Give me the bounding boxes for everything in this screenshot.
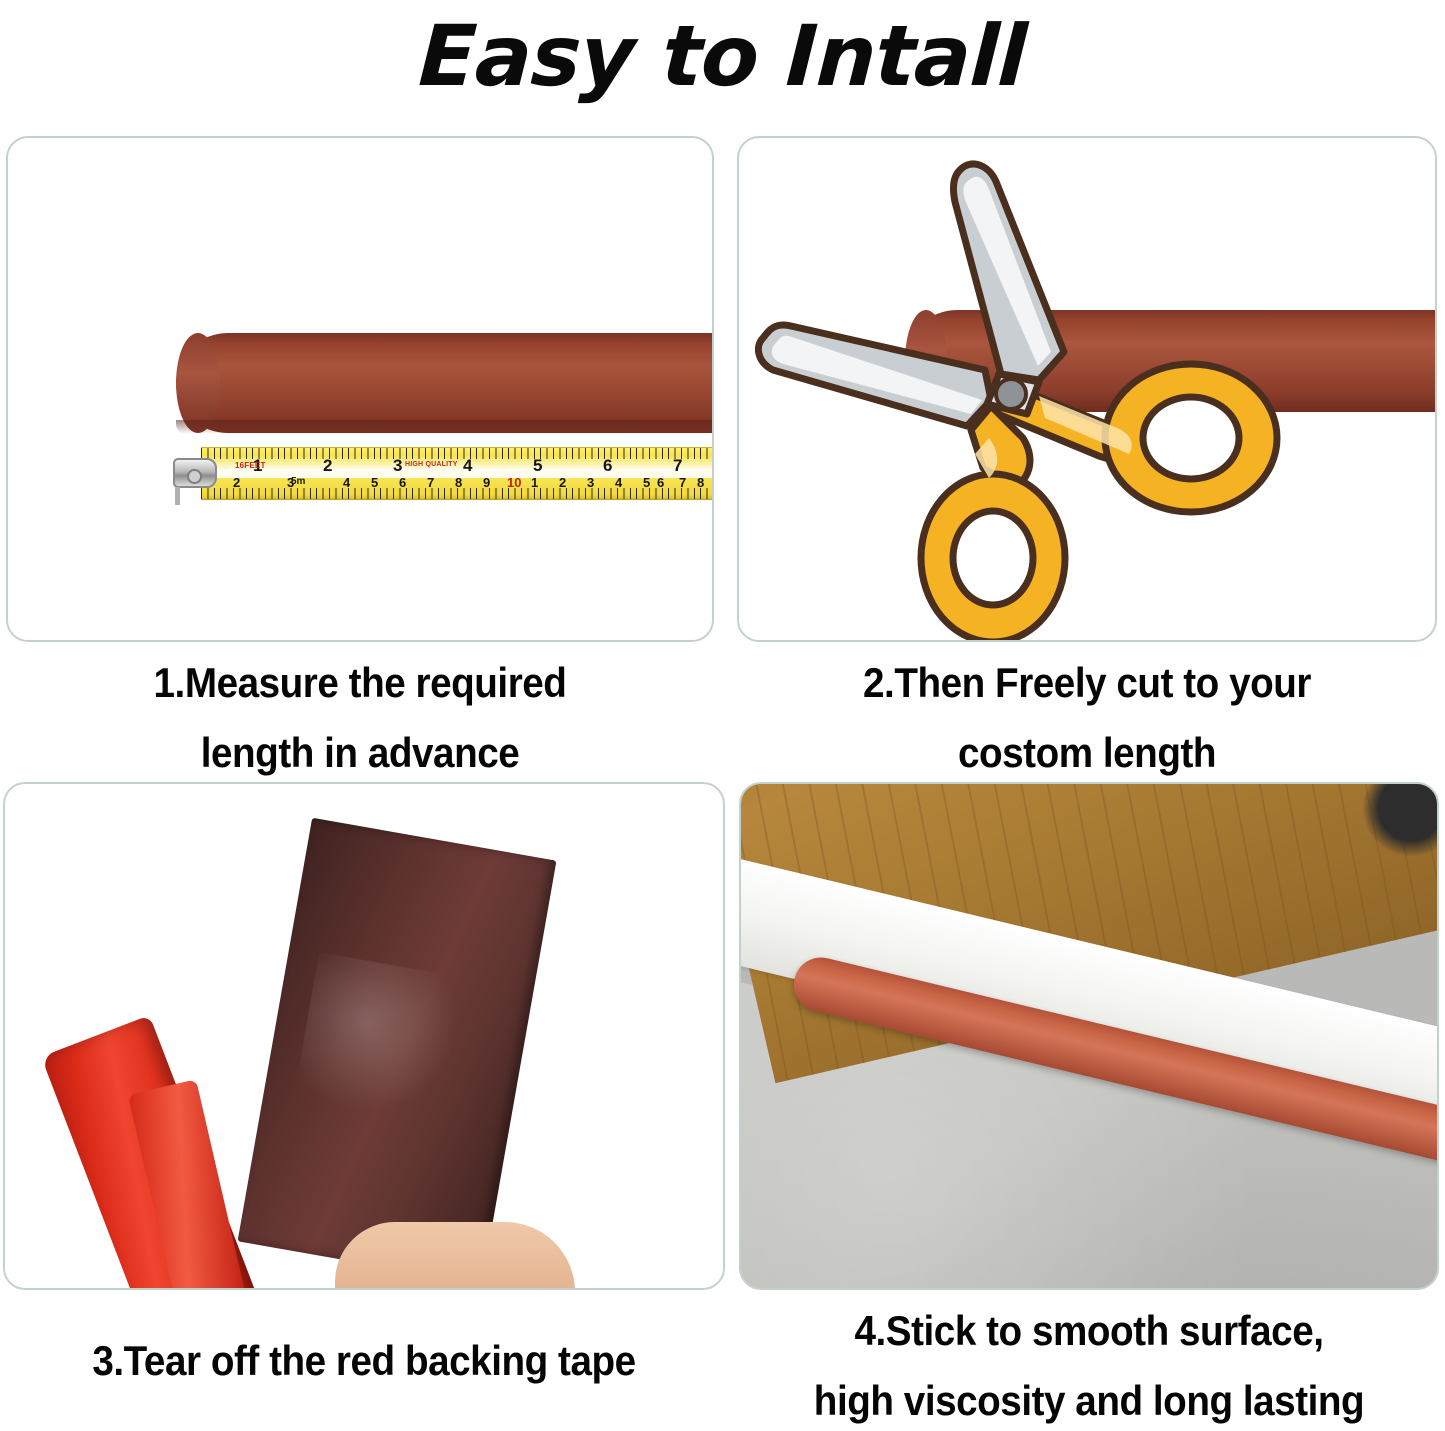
step-4-panel — [739, 782, 1439, 1290]
installed-trim-photo — [741, 784, 1439, 1290]
peel-backing-illustration — [5, 784, 725, 1290]
tape-hook-icon — [173, 458, 217, 488]
scissors-icon — [739, 138, 1437, 642]
caption-line-2: length in advance — [34, 718, 685, 788]
caption-line-1: 1.Measure the required — [34, 648, 685, 718]
caption-line-1: 4.Stick to smooth surface, — [767, 1296, 1411, 1366]
caption-line-1: 3.Tear off the red backing tape — [32, 1326, 696, 1396]
tape-cm-numbers: 2 3 4 5 6 7 8 9 10 1 2 3 4 5 6 7 8 — [201, 475, 714, 489]
caption-line-2: costom length — [765, 718, 1409, 788]
pipe-shadow — [176, 420, 714, 434]
hand-holding-tape — [335, 1222, 575, 1290]
tape-strip-highlight — [293, 952, 467, 1126]
step-3-caption: 3.Tear off the red backing tape — [32, 1326, 696, 1396]
caption-line-2: high viscosity and long lasting — [767, 1366, 1411, 1431]
step-2-caption: 2.Then Freely cut to your costom length — [765, 648, 1409, 788]
page-title: Easy to Intall — [0, 2, 1445, 110]
step-1-panel: 1 2 3 4 5 6 7 16FEET HIGH QUALITY 5m 2 3… — [6, 136, 714, 642]
step-1-caption: 1.Measure the required length in advance — [34, 648, 685, 788]
caption-line-1: 2.Then Freely cut to your — [765, 648, 1409, 718]
tape-quality-label: HIGH QUALITY — [405, 461, 458, 468]
tape-measure: 1 2 3 4 5 6 7 16FEET HIGH QUALITY 5m 2 3… — [173, 447, 714, 500]
tape-hook-tail — [175, 487, 180, 505]
tape-brand-label: 16FEET — [235, 461, 266, 470]
step-4-caption: 4.Stick to smooth surface, high viscosit… — [767, 1296, 1411, 1431]
trim-pipe-shape — [176, 333, 714, 433]
step-3-panel — [3, 782, 725, 1290]
step-2-panel — [737, 136, 1437, 642]
infographic-page: Easy to Intall 1 2 3 4 5 6 7 16F — [0, 0, 1445, 1431]
